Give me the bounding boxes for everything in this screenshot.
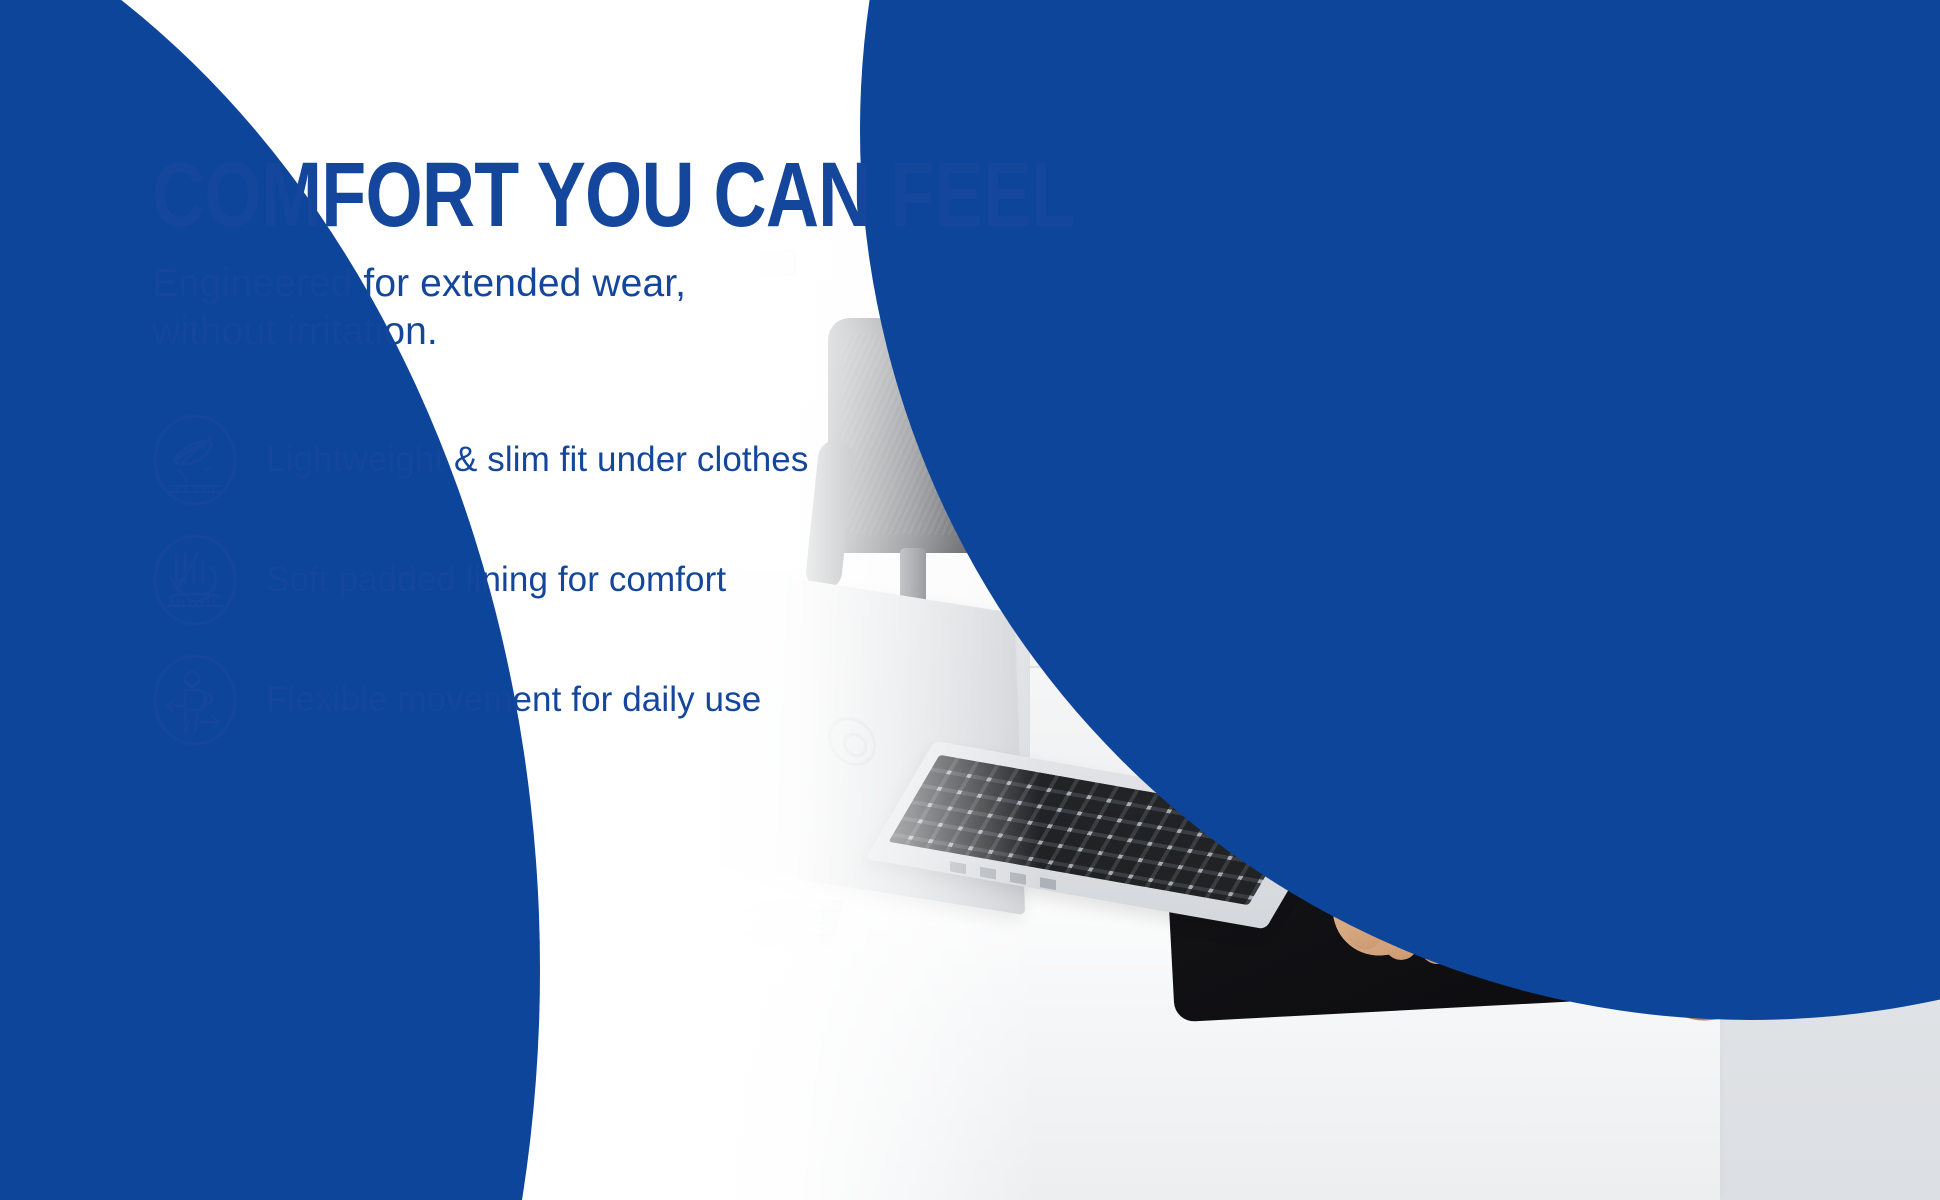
- feature-item-flexible-movement: Flexible movement for daily use: [152, 654, 1052, 746]
- subheading: Engineered for extended wear, without ir…: [152, 260, 1052, 355]
- feature-label: Flexible movement for daily use: [266, 680, 761, 720]
- feature-label: Lightweight & slim fit under clothes: [266, 440, 808, 480]
- subheading-line-2: without irritation.: [152, 308, 1052, 356]
- feature-item-padded-lining: Soft padded lining for comfort: [152, 534, 1052, 626]
- feather-on-surface-icon: [152, 414, 238, 506]
- feature-label: Soft padded lining for comfort: [266, 560, 726, 600]
- text-content: COMFORT YOU CAN FEEL Engineered for exte…: [152, 152, 1052, 746]
- person-moving-arrows-icon: [152, 654, 238, 746]
- feature-item-lightweight: Lightweight & slim fit under clothes: [152, 414, 1052, 506]
- promo-banner: Madaar COMFORT YOU CAN FEEL Engineered f…: [0, 0, 1940, 1200]
- hand-pressing-padding-icon: [152, 534, 238, 626]
- page-title: COMFORT YOU CAN FEEL: [152, 152, 872, 238]
- feature-list: Lightweight & slim fit under clothes: [152, 414, 1052, 746]
- subheading-line-1: Engineered for extended wear,: [152, 260, 1052, 308]
- desk-paper: [721, 900, 844, 946]
